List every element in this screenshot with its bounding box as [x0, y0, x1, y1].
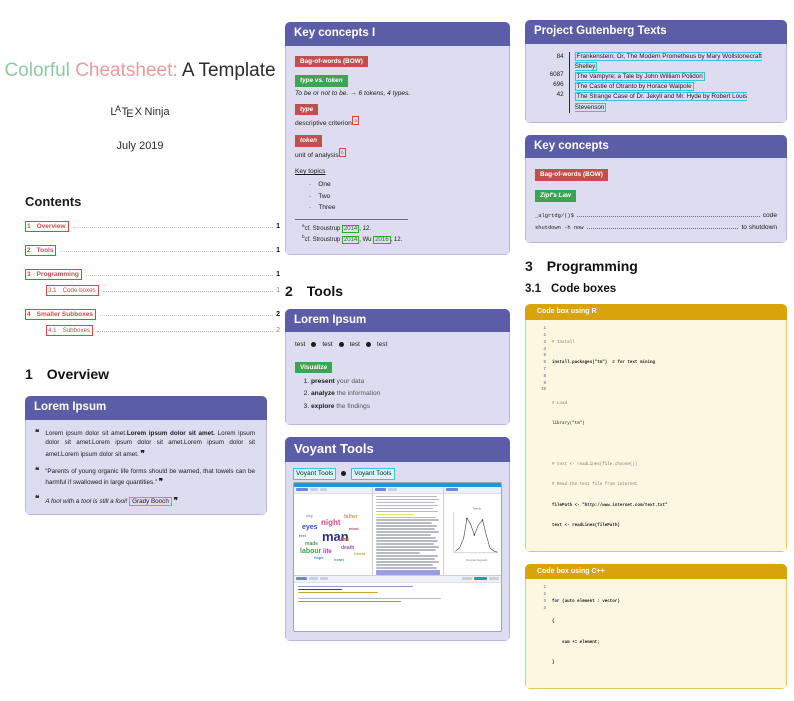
box-body: 1 2 3 4 5 6 7 8 9 10 # Install: [525, 320, 787, 552]
quote-open-icon: ❝: [35, 429, 39, 460]
pane-chip-icon: [446, 488, 458, 491]
toc-label: Subboxes: [63, 327, 91, 334]
code-line: for (auto element : vector): [552, 599, 620, 606]
svg-text:Trends: Trends: [472, 506, 481, 510]
type-definition-text: descriptive criterion: [295, 120, 352, 127]
voyant-screenshot[interactable]: eyes night man made labour life death fa…: [293, 482, 502, 632]
contents-heading: Contents: [25, 194, 280, 209]
code-line: # text <- readLines(file.choose()): [552, 462, 668, 469]
subsection-heading-code-boxes: 3.1 Code boxes: [525, 283, 787, 295]
section-number: 2: [285, 283, 293, 299]
code-line: # Load: [552, 401, 668, 408]
cloud-word: day: [306, 514, 313, 518]
voyant-trends-pane[interactable]: Trends Document Segments: [444, 487, 501, 575]
gutenberg-id: 6087: [535, 70, 564, 80]
code-line-numbers: 1 2 3 4: [534, 585, 552, 680]
section-number: 3: [525, 258, 533, 274]
quote-item: ❝ “Parents of young organic life forms s…: [35, 467, 255, 488]
pane-chip-icon: [309, 577, 318, 580]
citation-link[interactable]: 2014: [342, 225, 359, 233]
citation-link[interactable]: 2016: [373, 236, 390, 244]
footnote-a: acf. Stroustrup 2014, 12.: [302, 223, 500, 234]
key-topics-list: One Two Three: [309, 180, 500, 213]
toc-entry[interactable]: 4.1 Subboxes 2: [25, 325, 280, 336]
toc-link-tools[interactable]: 2 Tools: [25, 245, 56, 256]
table-row[interactable]: The Vampyre; a Tale by John William Poli…: [575, 72, 777, 82]
box-body: ❝ Lorem ipsum dolor sit amet.Lorem ipsum…: [25, 420, 267, 515]
list-item: present your data: [311, 376, 500, 388]
list-item: explore the findings: [311, 401, 500, 413]
title-word-rest: A Template: [182, 60, 276, 81]
key-topics-label: Key topics: [295, 167, 500, 177]
toc-label: Tools: [37, 247, 54, 254]
step-keyword: present: [311, 378, 335, 385]
table-row[interactable]: Frankenstein; Or, The Modern Prometheus …: [575, 52, 777, 72]
box-body: 1 2 3 4 for (auto element : vector) { su…: [525, 579, 787, 689]
type-vs-token-note: To be or not to be. → 6 tokens, 4 types.: [295, 89, 500, 99]
pane-chip-icon: [474, 577, 487, 580]
definition-desc: to shutdown: [741, 223, 777, 233]
definition-desc: code: [763, 211, 777, 221]
line-number: 6: [534, 360, 546, 367]
test-bullet-row: test test test test: [295, 340, 500, 349]
cloud-word: eyes: [302, 524, 318, 531]
gutenberg-title-link[interactable]: Frankenstein; Or, The Modern Prometheus …: [575, 52, 762, 71]
quote-pre: Lorem ipsum dolor sit amet.: [45, 430, 127, 437]
section-title: Overview: [47, 366, 109, 382]
code-box-cpp: Code box using C++ 1 2 3 4 for (auto ele…: [525, 564, 787, 690]
quote-source-link[interactable]: Grady Booch: [129, 497, 172, 506]
tag-bag-of-words: Bag-of-words (BOW): [295, 56, 368, 68]
toc-page: 1: [276, 271, 280, 278]
toc-label: Code boxes: [63, 287, 96, 294]
bullet-dot-icon: [366, 342, 371, 347]
definition-term: _algrtdg/()$: [535, 213, 574, 221]
gutenberg-table: 84 6087 696 42 Frankenstein; Or, The Mod…: [535, 52, 777, 113]
quote-item: ❝ A fool with a tool is still a fool! Gr…: [35, 495, 255, 507]
tag-bag-of-words: Bag-of-words (BOW): [535, 169, 608, 181]
author-name: Ninja: [145, 106, 170, 118]
box-title: Key concepts I: [285, 22, 510, 46]
footnote-ref-b[interactable]: b: [339, 148, 347, 157]
table-row[interactable]: The Strange Case of Dr. Jekyll and Mr. H…: [575, 92, 777, 112]
step-text: the information: [335, 390, 380, 397]
quote-open-icon: ❝: [35, 467, 39, 488]
quote-close-icon: ❞: [159, 477, 163, 486]
toc-leader: [60, 250, 273, 252]
line-number: 10: [534, 387, 546, 394]
title-word-cheatsheet: Cheatsheet:: [75, 60, 177, 81]
section-title: Tools: [307, 283, 343, 299]
list-item: Three: [309, 203, 500, 213]
footnote-pre: cf. Stroustrup: [305, 226, 342, 232]
gutenberg-ids: 84 6087 696 42: [535, 52, 569, 113]
cloud-word: hope: [314, 556, 324, 560]
line-number: 2: [534, 333, 546, 340]
list-item: analyze the information: [311, 388, 500, 400]
toc-entry[interactable]: 4 Smaller Subboxes 2: [25, 309, 280, 320]
code-listing-cpp[interactable]: 1 2 3 4 for (auto element : vector) { su…: [534, 585, 780, 680]
box-body: Voyant Tools Voyant Tools: [285, 462, 510, 641]
toc-entry[interactable]: 3 Programming 1: [25, 269, 280, 280]
quote-pre: “Parents of young organic life forms sho…: [45, 468, 255, 486]
table-of-contents: 1 Overview 1 2 Tools 1 3: [25, 221, 280, 336]
gutenberg-title-link[interactable]: The Castle of Otranto by Horace Walpole: [575, 82, 694, 91]
code-line: [552, 381, 668, 388]
box-title: Code box using C++: [525, 564, 787, 580]
voyant-cirrus-pane[interactable]: eyes night man made labour life death fa…: [294, 487, 373, 575]
citation-link[interactable]: 2014: [342, 236, 359, 244]
definition-leader: [577, 215, 760, 217]
gutenberg-id: 42: [535, 90, 564, 100]
toc-num: 3: [27, 271, 31, 278]
toc-leader: [73, 226, 274, 228]
quote-text: Lorem ipsum dolor sit amet.Lorem ipsum d…: [45, 429, 255, 460]
box-title: Project Gutenberg Texts: [525, 20, 787, 44]
toc-num: 1: [27, 223, 31, 230]
box-body: test test test test Visualize present yo…: [285, 332, 510, 425]
footnote-rule: [295, 219, 408, 220]
line-number: 2: [534, 592, 546, 599]
tag-zipfs-law: Zipf's Law: [535, 190, 576, 202]
pane-chip-icon: [489, 577, 499, 580]
box-body: Bag-of-words (BOW) Zipf's Law _algrtdg/(…: [525, 158, 787, 243]
middle-column: Key concepts I Bag-of-words (BOW) type v…: [285, 0, 510, 653]
cloud-word: father: [344, 515, 358, 520]
code-line-numbers: 1 2 3 4 5 6 7 8 9 10: [534, 326, 552, 544]
gutenberg-title-link[interactable]: The Strange Case of Dr. Jekyll and Mr. H…: [575, 92, 747, 111]
toc-label: Smaller Subboxes: [37, 311, 93, 318]
key-concepts-1-box: Key concepts I Bag-of-words (BOW) type v…: [285, 22, 510, 255]
test-label: test: [295, 340, 305, 349]
step-keyword: analyze: [311, 390, 335, 397]
toc-page: 2: [276, 327, 280, 334]
pane-header: [373, 487, 443, 494]
quote-close-icon: ❞: [174, 496, 178, 505]
toc-page: 2: [276, 311, 280, 318]
code-line: [552, 442, 668, 449]
footnote-b: bcf. Stroustrup 2014, Wu 2016, 12.: [302, 234, 500, 245]
box-body: 84 6087 696 42 Frankenstein; Or, The Mod…: [525, 44, 787, 123]
code-line: filePath <- "http://www.internet.com/tex…: [552, 503, 668, 510]
quote-text: A fool with a tool is still a fool! Grad…: [45, 495, 178, 507]
code-line: sum += element;: [552, 640, 620, 647]
code-line: }: [552, 660, 620, 667]
voyant-tab-right[interactable]: Voyant Tools: [351, 468, 394, 480]
line-number: 7: [534, 367, 546, 374]
reader-text: [373, 494, 443, 575]
test-label: test: [350, 340, 360, 349]
section-heading-tools: 2 Tools: [285, 283, 510, 299]
token-definition: unit of analysisb: [295, 148, 500, 161]
pane-chip-icon: [310, 488, 318, 491]
right-column: Project Gutenberg Texts 84 6087 696 42 F…: [525, 0, 787, 701]
line-number: 5: [534, 353, 546, 360]
key-concepts-2-box: Key concepts Bag-of-words (BOW) Zipf's L…: [525, 135, 787, 244]
toc-num: 4: [27, 311, 31, 318]
section-title: Programming: [547, 258, 638, 274]
box-title: Lorem Ipsum: [25, 396, 267, 420]
line-number: 4: [534, 606, 546, 613]
section-heading-overview: 1 Overview: [25, 366, 280, 382]
project-gutenberg-box: Project Gutenberg Texts 84 6087 696 42 F…: [525, 20, 787, 123]
toc-link-overview[interactable]: 1 Overview: [25, 221, 69, 232]
voyant-tab-row: Voyant Tools Voyant Tools: [293, 468, 502, 480]
line-number: 3: [534, 340, 546, 347]
tag-visualize: Visualize: [295, 362, 332, 374]
gutenberg-id: 84: [535, 52, 564, 62]
pane-header: [294, 576, 501, 583]
pane-chip-icon: [388, 488, 397, 491]
pane-header: [294, 487, 372, 494]
test-label: test: [322, 340, 332, 349]
tag-type: type: [295, 104, 318, 116]
line-number: 4: [534, 347, 546, 354]
steps-list: present your data analyze the informatio…: [311, 376, 500, 413]
toc-label: Programming: [37, 271, 79, 278]
toc-num: 4.1: [48, 327, 57, 334]
table-row[interactable]: The Castle of Otranto by Horace Walpole: [575, 82, 777, 92]
left-column: Colorful Cheatsheet: A Template LATEX Ni…: [0, 0, 280, 527]
box-title: Code box using R: [525, 304, 787, 320]
line-number: 1: [534, 326, 546, 333]
line-number: 8: [534, 374, 546, 381]
section-number: 1: [25, 366, 33, 382]
definition-row: shutdown -h now to shutdown: [535, 223, 777, 233]
definition-row: _algrtdg/()$ code: [535, 211, 777, 221]
box-title: Lorem Ipsum: [285, 309, 510, 333]
voyant-panes: eyes night man made labour life death fa…: [294, 487, 501, 576]
gutenberg-titles: Frankenstein; Or, The Modern Prometheus …: [570, 52, 777, 113]
tag-token: token: [295, 135, 322, 147]
cloud-word: feel: [299, 534, 306, 538]
document-title: Colorful Cheatsheet: A Template: [0, 58, 280, 84]
lorem-ipsum-tools-box: Lorem Ipsum test test test test Visualiz…: [285, 309, 510, 425]
definition-term: shutdown -h now: [535, 225, 584, 233]
bullet-dot-icon: [339, 342, 344, 347]
toc-entry[interactable]: 1 Overview 1: [25, 221, 280, 232]
voyant-tab-left[interactable]: Voyant Tools: [293, 468, 336, 480]
toc-leader: [103, 290, 273, 292]
voyant-tools-box: Voyant Tools Voyant Tools Voyant Tools: [285, 437, 510, 641]
code-line: # Install: [552, 340, 668, 347]
step-text: the findings: [334, 403, 370, 410]
toc-page: 1: [276, 223, 280, 230]
quote-bold: Lorem ipsum dolor sit amet.: [127, 430, 215, 437]
quote-open-icon: ❝: [35, 495, 39, 507]
toc-leader: [86, 274, 273, 276]
cloud-word: heart: [334, 558, 344, 562]
footnote-post: , 12.: [359, 226, 371, 232]
box-title: Key concepts: [525, 135, 787, 159]
pane-chip-icon: [375, 488, 386, 491]
cloud-word: night: [321, 519, 341, 527]
title-word-colorful: Colorful: [4, 60, 69, 81]
footnote-mid: , Wu: [359, 237, 373, 243]
cloud-word: time: [339, 538, 349, 543]
bullet-dot-icon: [311, 342, 316, 347]
pane-chip-icon: [296, 577, 307, 580]
code-box-r: Code box using R 1 2 3 4 5 6 7 8 9: [525, 304, 787, 551]
code-line: # Read the text file from internet: [552, 482, 668, 489]
subsection-number: 3.1: [525, 283, 541, 295]
footnote-pre: cf. Stroustrup: [305, 237, 342, 243]
test-label: test: [377, 340, 387, 349]
document-date: July 2019: [0, 140, 280, 152]
toc-link-programming[interactable]: 3 Programming: [25, 269, 82, 280]
cloud-word: friend: [354, 552, 365, 556]
lorem-ipsum-quotes-box: Lorem Ipsum ❝ Lorem ipsum dolor sit amet…: [25, 396, 267, 515]
subsection-title: Code boxes: [551, 283, 616, 295]
code-line: library("tm"): [552, 421, 668, 428]
pane-header: [444, 487, 501, 494]
tag-type-vs-token: type vs. token: [295, 75, 348, 87]
list-item: One: [309, 180, 500, 190]
list-item: Two: [309, 192, 500, 202]
voyant-summary-pane[interactable]: [294, 576, 501, 626]
footnote-post: , 12.: [391, 237, 403, 243]
code-lines: # Install install.packages("tm") # for t…: [552, 326, 668, 544]
voyant-reader-pane[interactable]: [373, 487, 444, 575]
quote-item: ❝ Lorem ipsum dolor sit amet.Lorem ipsum…: [35, 429, 255, 460]
code-line: install.packages("tm") # for text mining: [552, 360, 668, 367]
cloud-word: life: [323, 549, 332, 555]
line-number: 3: [534, 599, 546, 606]
toc-link-code-boxes[interactable]: 3.1 Code boxes: [46, 285, 99, 296]
cheatsheet-page: Colorful Cheatsheet: A Template LATEX Ni…: [0, 0, 794, 562]
latex-logo: LATEX: [110, 106, 141, 118]
toc-page: 1: [276, 287, 280, 294]
code-lines: for (auto element : vector) { sum += ele…: [552, 585, 620, 680]
toc-entry[interactable]: 2 Tools 1: [25, 245, 280, 256]
code-line: {: [552, 619, 620, 626]
cloud-word: made: [305, 542, 318, 547]
type-definition: descriptive criteriona: [295, 116, 500, 129]
toc-link-smaller-subboxes[interactable]: 4 Smaller Subboxes: [25, 309, 96, 320]
toc-leader: [100, 314, 273, 316]
pane-chip-icon: [320, 488, 327, 491]
footnote-ref-a[interactable]: a: [352, 116, 360, 125]
line-number: 9: [534, 381, 546, 388]
cloud-word: labour: [300, 548, 321, 555]
cloud-word: mind: [349, 527, 359, 531]
toc-label: Overview: [37, 223, 66, 230]
box-title: Voyant Tools: [285, 437, 510, 462]
token-definition-text: unit of analysis: [295, 152, 339, 159]
toc-page: 1: [276, 247, 280, 254]
gutenberg-title-link[interactable]: The Vampyre; a Tale by John William Poli…: [575, 72, 705, 81]
definition-leader: [587, 227, 739, 229]
step-keyword: explore: [311, 403, 334, 410]
line-number: 1: [534, 585, 546, 592]
quote-pre: A fool with a tool is still a fool!: [45, 498, 127, 505]
quote-close-icon: ❞: [141, 449, 145, 458]
box-body: Bag-of-words (BOW) type vs. token To be …: [285, 46, 510, 255]
quote-text: “Parents of young organic life forms sho…: [45, 467, 255, 488]
code-line: text <- readLines(filePath): [552, 523, 668, 530]
gutenberg-id: 696: [535, 80, 564, 90]
toc-link-subboxes[interactable]: 4.1 Subboxes: [46, 325, 93, 336]
document-author: LATEX Ninja: [0, 106, 280, 118]
summary-text: [294, 583, 501, 607]
bullet-dot-icon: [341, 471, 346, 476]
pane-chip-icon: [320, 577, 328, 580]
cloud-word: death: [341, 546, 354, 551]
toc-entry[interactable]: 3.1 Code boxes 1: [25, 285, 280, 296]
svg-text:Document Segments: Document Segments: [466, 559, 488, 562]
toc-leader: [97, 330, 273, 332]
toc-num: 3.1: [48, 287, 57, 294]
step-text: your data: [335, 378, 364, 385]
section-heading-programming: 3 Programming: [525, 258, 787, 274]
code-listing-r[interactable]: 1 2 3 4 5 6 7 8 9 10 # Install: [534, 326, 780, 544]
pane-chip-icon: [296, 488, 308, 491]
pane-chip-icon: [462, 577, 472, 580]
toc-num: 2: [27, 247, 31, 254]
